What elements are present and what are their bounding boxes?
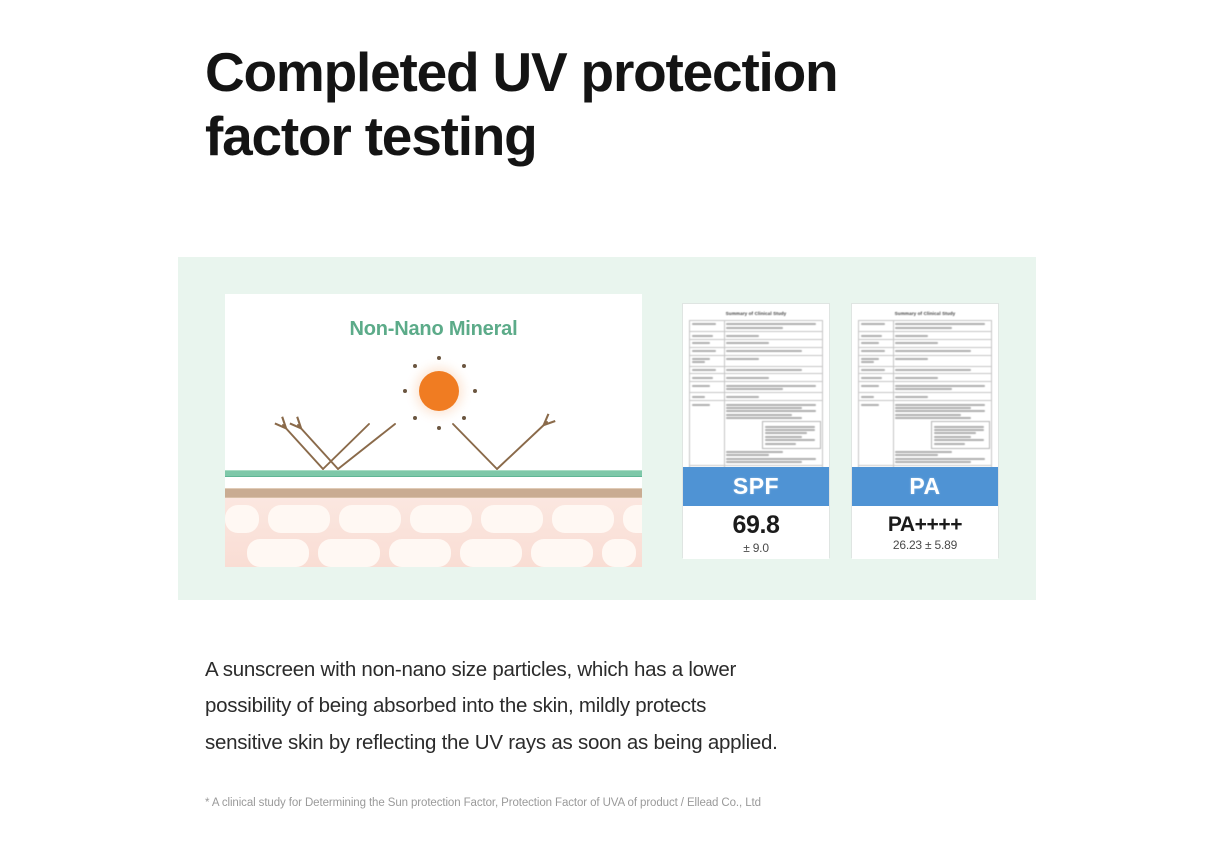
table-cell-value <box>893 332 991 340</box>
skin-cell <box>531 539 593 567</box>
spf-certificate-card: Summary of Clinical Study <box>682 303 830 558</box>
mineral-barrier-layer <box>225 470 642 477</box>
table-cell-key <box>690 382 725 393</box>
table-cell-value <box>893 393 991 401</box>
table-cell-value <box>724 332 822 340</box>
table-cell-key <box>690 374 725 382</box>
table-cell-key <box>690 347 725 355</box>
skin-cell <box>339 505 401 533</box>
table-row <box>690 366 823 374</box>
skin-cell <box>318 539 380 567</box>
table-row <box>690 374 823 382</box>
skin-cell <box>552 505 614 533</box>
page-title-line-2: factor testing <box>205 104 1035 168</box>
table-cell-value <box>893 366 991 374</box>
pa-certificate-card: Summary of Clinical Study <box>851 303 999 558</box>
body-line-3: sensitive skin by reflecting the UV rays… <box>205 725 1035 761</box>
skin-cell-row <box>225 505 642 533</box>
document-inset-box <box>931 421 990 449</box>
table-row <box>859 347 992 355</box>
table-cell-key <box>859 321 894 332</box>
skin-cell <box>247 539 309 567</box>
spf-result-deviation: ± 9.0 <box>743 541 769 555</box>
table-cell-value <box>893 321 991 332</box>
body-line-2: possibility of being absorbed into the s… <box>205 688 1035 724</box>
table-cell-value <box>724 374 822 382</box>
table-cell-value <box>724 401 822 466</box>
table-row-tall <box>690 401 823 466</box>
page-title-line-1: Completed UV protection <box>205 40 1035 104</box>
table-cell-value <box>893 347 991 355</box>
spf-document-table <box>689 320 823 470</box>
table-cell-key <box>859 382 894 393</box>
table-cell-key <box>859 401 894 466</box>
table-row <box>859 374 992 382</box>
dermis-layer-line <box>225 488 642 498</box>
table-row <box>690 321 823 332</box>
pa-result: PA++++ 26.23 ± 5.89 <box>852 506 998 559</box>
pa-document-table <box>858 320 992 470</box>
uv-reflection-illustration: Non-Nano Mineral <box>225 294 642 567</box>
table-cell-value <box>724 355 822 366</box>
table-row-tall <box>859 401 992 466</box>
table-row <box>690 355 823 366</box>
product-detail-page: Completed UV protection factor testing N… <box>0 0 1214 853</box>
table-cell-key <box>690 393 725 401</box>
table-cell-value <box>893 355 991 366</box>
pa-result-value: PA++++ <box>888 513 962 537</box>
table-cell-key <box>859 339 894 347</box>
footnote: * A clinical study for Determining the S… <box>205 797 1065 809</box>
table-row <box>690 332 823 340</box>
table-cell-value <box>724 339 822 347</box>
pa-result-deviation: 26.23 ± 5.89 <box>893 538 957 552</box>
table-row <box>859 332 992 340</box>
table-row <box>690 347 823 355</box>
skin-cell <box>410 505 472 533</box>
table-cell-value <box>893 374 991 382</box>
table-cell-key <box>859 355 894 366</box>
table-cell-key <box>690 332 725 340</box>
skin-cell <box>268 505 330 533</box>
table-row <box>859 321 992 332</box>
table-cell-value <box>724 321 822 332</box>
table-cell-key <box>690 366 725 374</box>
table-row <box>859 382 992 393</box>
skin-surface-gap <box>225 477 642 488</box>
skin-cell <box>225 505 259 533</box>
table-row <box>859 355 992 366</box>
table-row <box>690 339 823 347</box>
spf-document-title: Summary of Clinical Study <box>689 311 823 316</box>
table-cell-value <box>724 347 822 355</box>
feature-panel: Non-Nano Mineral <box>178 257 1036 600</box>
table-cell-key <box>690 321 725 332</box>
table-cell-value <box>893 401 991 466</box>
pa-document-title: Summary of Clinical Study <box>858 311 992 316</box>
table-cell-value <box>893 382 991 393</box>
skin-cell <box>481 505 543 533</box>
table-cell-key <box>690 355 725 366</box>
table-cell-key <box>690 401 725 466</box>
table-cell-value <box>724 366 822 374</box>
skin-cell-row <box>225 539 642 567</box>
skin-cell <box>460 539 522 567</box>
table-cell-key <box>859 393 894 401</box>
table-cell-value <box>724 382 822 393</box>
body-description: A sunscreen with non-nano size particles… <box>205 652 1035 761</box>
table-row <box>859 366 992 374</box>
table-row <box>859 339 992 347</box>
spf-band-label: SPF <box>733 473 779 500</box>
skin-cell <box>623 505 642 533</box>
table-cell-key <box>859 347 894 355</box>
pa-clinical-document: Summary of Clinical Study <box>852 304 998 470</box>
page-title: Completed UV protection factor testing <box>205 40 1035 169</box>
table-cell-key <box>859 366 894 374</box>
table-row <box>859 393 992 401</box>
spf-result: 69.8 ± 9.0 <box>683 506 829 559</box>
table-row <box>690 382 823 393</box>
table-cell-value <box>724 393 822 401</box>
document-inset-box <box>762 421 821 449</box>
table-cell-key <box>859 332 894 340</box>
table-cell-value <box>893 339 991 347</box>
pa-band: PA <box>852 467 998 506</box>
pa-band-label: PA <box>909 473 940 500</box>
table-cell-key <box>859 374 894 382</box>
spf-result-value: 69.8 <box>732 511 779 540</box>
skin-cell <box>389 539 451 567</box>
skin-layer <box>225 498 642 567</box>
spf-band: SPF <box>683 467 829 506</box>
spf-clinical-document: Summary of Clinical Study <box>683 304 829 470</box>
table-row <box>690 393 823 401</box>
body-line-1: A sunscreen with non-nano size particles… <box>205 652 1035 688</box>
table-cell-key <box>690 339 725 347</box>
skin-cell <box>602 539 636 567</box>
